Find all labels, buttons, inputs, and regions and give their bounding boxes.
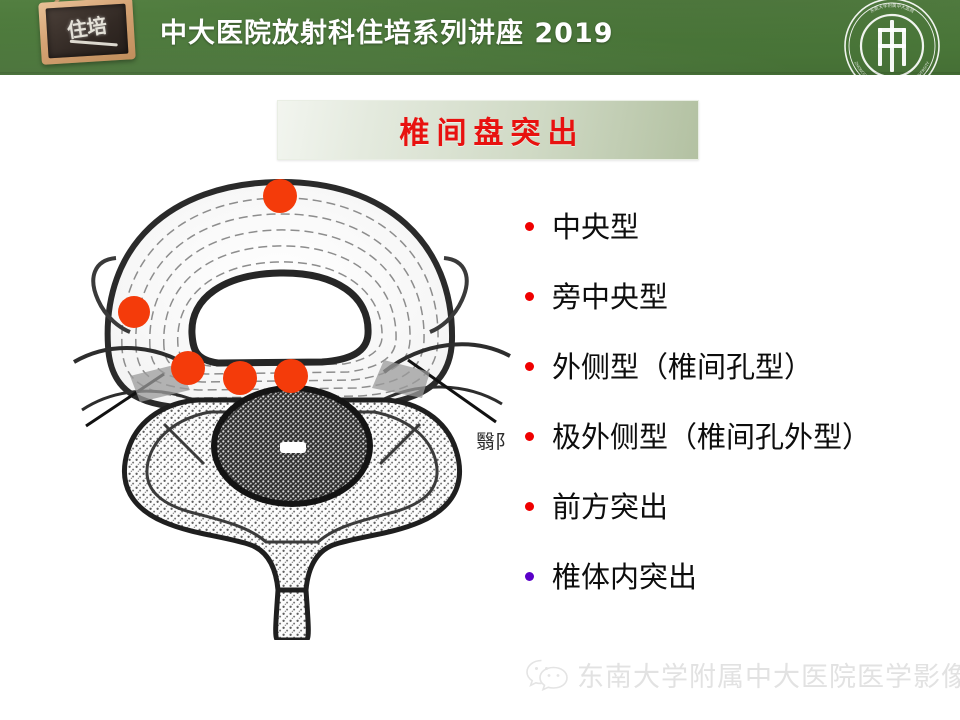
header-title: 中大医院放射科住培系列讲座 2019 bbox=[160, 11, 614, 50]
bullet-label: 椎体内突出 bbox=[552, 554, 697, 596]
central-marker bbox=[274, 359, 308, 393]
vertebra-cross-section-illustration: 翳阝 bbox=[72, 150, 512, 640]
svg-text:东南大学附属中大医院: 东南大学附属中大医院 bbox=[869, 2, 916, 15]
paracentral-marker bbox=[223, 361, 257, 395]
bullet-intravertebral-protrusion: 椎体内突出 bbox=[525, 540, 945, 610]
bullet-label: 外侧型（椎间孔型） bbox=[552, 344, 813, 386]
bullet-dot-icon bbox=[525, 432, 534, 441]
bullet-label: 旁中央型 bbox=[552, 274, 668, 316]
hospital-emblem-icon: 东南大学附属中大医院 ZHONGDA HOSPITAL · SOUTHEAST … bbox=[840, 0, 944, 75]
bullet-label: 前方突出 bbox=[552, 484, 668, 526]
anterior-protrusion-marker bbox=[263, 179, 297, 213]
bullet-dot-icon bbox=[525, 292, 534, 301]
bullet-lateral-foraminal-type: 外侧型（椎间孔型） bbox=[525, 330, 945, 400]
footer-watermark: 东南大学附属中大医院医学影像科 bbox=[525, 652, 960, 696]
chalkboard-frame: 住培 bbox=[38, 0, 136, 65]
herniation-type-list: 中央型 旁中央型 外侧型（椎间孔型） 极外侧型（椎间孔外型） 前方突出 椎体内突… bbox=[525, 190, 945, 610]
vertebra-diagram: 翳阝 bbox=[72, 150, 512, 640]
bullet-dot-icon bbox=[525, 502, 534, 511]
lateral-foraminal-marker bbox=[171, 351, 205, 385]
chalkboard-underline bbox=[70, 40, 118, 47]
bullet-paracentral-type: 旁中央型 bbox=[525, 260, 945, 330]
thecal-sac bbox=[214, 388, 370, 504]
bullet-central-type: 中央型 bbox=[525, 190, 945, 260]
bullet-label: 极外侧型（椎间孔外型） bbox=[552, 414, 871, 456]
chalkboard-surface: 住培 bbox=[46, 4, 129, 59]
slide-header: 住培 中大医院放射科住培系列讲座 2019 东南大学附属中大医 bbox=[0, 0, 960, 75]
bullet-dot-icon bbox=[525, 362, 534, 371]
wechat-icon bbox=[525, 657, 569, 691]
page-title: 椎间盘突出 bbox=[400, 108, 585, 152]
bullet-label: 中央型 bbox=[552, 204, 639, 246]
chalkboard-icon: 住培 bbox=[24, 0, 148, 75]
bullet-dot-icon bbox=[525, 572, 534, 581]
bullet-dot-icon bbox=[525, 222, 534, 231]
slide: 住培 中大医院放射科住培系列讲座 2019 东南大学附属中大医 bbox=[0, 0, 960, 720]
far-lateral-marker bbox=[118, 296, 150, 328]
bullet-far-lateral-extraforaminal-type: 极外侧型（椎间孔外型） bbox=[525, 400, 945, 470]
bullet-anterior-protrusion: 前方突出 bbox=[525, 470, 945, 540]
diagram-caption-fragment: 翳阝 bbox=[476, 431, 512, 453]
footer-text: 东南大学附属中大医院医学影像科 bbox=[577, 655, 960, 694]
